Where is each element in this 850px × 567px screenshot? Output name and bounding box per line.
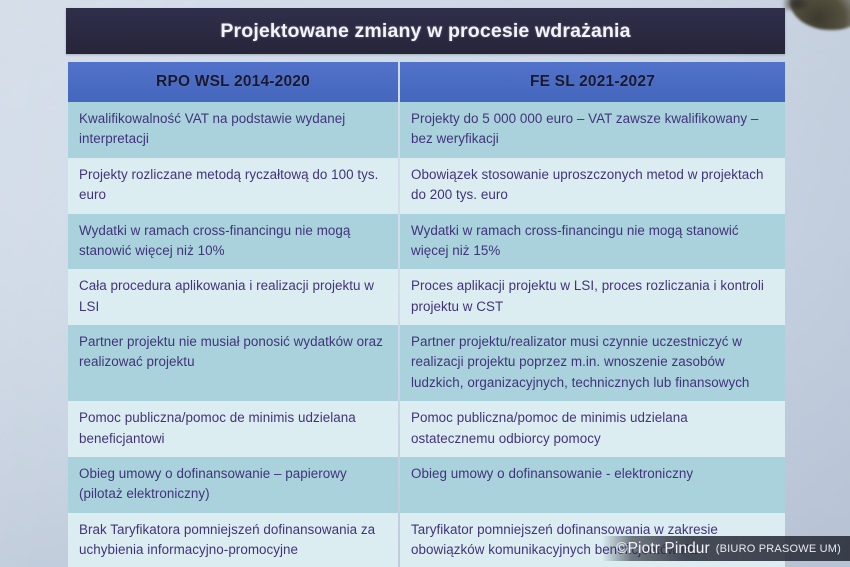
slide-title-bar: Projektowane zmiany w procesie wdrażania [66, 8, 785, 54]
cell-old-programme: Obieg umowy o dofinansowanie – papierowy… [68, 457, 398, 513]
photo-credit: ©Piotr Pindur (BIURO PRASOWE UM) [602, 536, 850, 561]
cell-new-programme: Obieg umowy o dofinansowanie - elektroni… [400, 457, 785, 513]
projection-screen: Projektowane zmiany w procesie wdrażania… [0, 0, 850, 567]
cell-old-programme: Wydatki w ramach cross-financingu nie mo… [68, 214, 398, 270]
corner-obstruction-secondary [784, 0, 810, 10]
cell-old-programme: Kwalifikowalność VAT na podstawie wydane… [68, 102, 398, 158]
table-header-row: RPO WSL 2014-2020 FE SL 2021-2027 [68, 62, 785, 102]
cell-old-programme: Brak Taryfikatora pomniejszeń dofinansow… [68, 513, 398, 567]
table-row: Obieg umowy o dofinansowanie – papierowy… [68, 457, 785, 513]
table-header: RPO WSL 2014-2020 FE SL 2021-2027 [68, 62, 785, 102]
cell-old-programme: Pomoc publiczna/pomoc de minimis udziela… [68, 401, 398, 457]
table-body: Kwalifikowalność VAT na podstawie wydane… [68, 102, 785, 567]
table-row: Projekty rozliczane metodą ryczałtową do… [68, 158, 785, 214]
cell-old-programme: Cała procedura aplikowania i realizacji … [68, 269, 398, 325]
cell-old-programme: Partner projektu nie musiał ponosić wyda… [68, 325, 398, 401]
comparison-table: RPO WSL 2014-2020 FE SL 2021-2027 Kwalif… [66, 62, 787, 567]
photo-credit-organisation: (BIURO PRASOWE UM) [716, 543, 841, 555]
photo-credit-name: ©Piotr Pindur [616, 540, 710, 558]
table-row: Cała procedura aplikowania i realizacji … [68, 269, 785, 325]
column-header-rpo-wsl: RPO WSL 2014-2020 [68, 62, 398, 102]
slide-title: Projektowane zmiany w procesie wdrażania [220, 20, 630, 43]
cell-new-programme: Proces aplikacji projektu w LSI, proces … [400, 269, 785, 325]
cell-new-programme: Partner projektu/realizator musi czynnie… [400, 325, 785, 401]
column-header-fe-sl: FE SL 2021-2027 [400, 62, 785, 102]
table-row: Wydatki w ramach cross-financingu nie mo… [68, 214, 785, 270]
cell-new-programme: Wydatki w ramach cross-financingu nie mo… [400, 214, 785, 270]
table-row: Partner projektu nie musiał ponosić wyda… [68, 325, 785, 401]
presentation-slide: Projektowane zmiany w procesie wdrażania… [66, 8, 785, 567]
cell-new-programme: Obowiązek stosowanie uproszczonych metod… [400, 158, 785, 214]
cell-new-programme: Pomoc publiczna/pomoc de minimis udziela… [400, 401, 785, 457]
cell-old-programme: Projekty rozliczane metodą ryczałtową do… [68, 158, 398, 214]
cell-new-programme: Projekty do 5 000 000 euro – VAT zawsze … [400, 102, 785, 158]
table-row: Pomoc publiczna/pomoc de minimis udziela… [68, 401, 785, 457]
table-row: Kwalifikowalność VAT na podstawie wydane… [68, 102, 785, 158]
